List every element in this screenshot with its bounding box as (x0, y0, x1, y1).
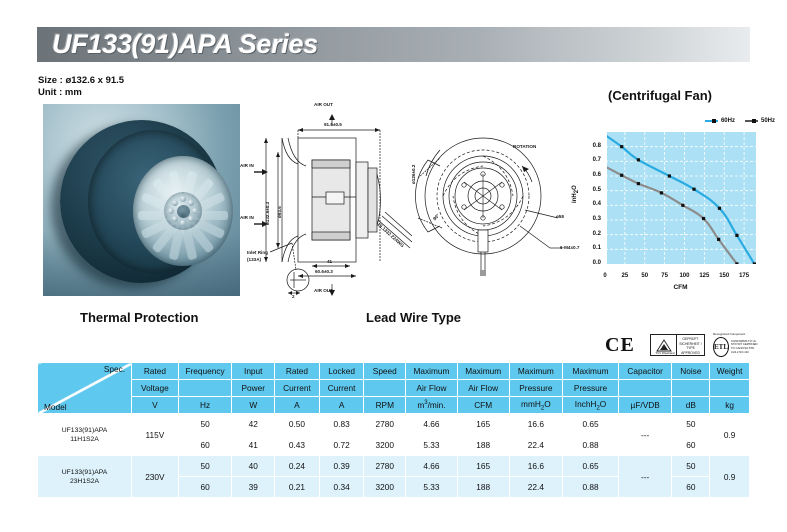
table-header-cell: Current (319, 380, 364, 397)
chart-y-minor-tickmark (602, 194, 605, 195)
table-row: UF133(91)APA11H1S2A115V50420.500.8327804… (38, 414, 750, 435)
chart-y-minor-tickmark (602, 261, 605, 262)
side-section-drawing: AIR OUT AIR OUT AIR IN AIR IN 91.5±0.5 ø… (252, 100, 412, 300)
chart-x-minor-tickmark (741, 265, 742, 268)
chart-series-60hz (605, 135, 754, 264)
table-cell-speed: 2780 (364, 414, 406, 435)
label-depth-60: 60.6±0.3 (315, 269, 333, 274)
table-header-cell: Weight (710, 363, 750, 380)
chart-x-minor-tickmark (726, 265, 727, 268)
tuv-caption: TÜV Rheinland (652, 351, 678, 355)
table-header-cell (710, 380, 750, 397)
table-cell-airflow-cfm: 188 (457, 435, 509, 456)
chart-x-tick: 150 (714, 273, 734, 279)
fan-product-photo (43, 104, 240, 296)
chart-y-minor-tickmark (602, 208, 605, 209)
chart-x-tick: 175 (734, 273, 754, 279)
table-cell-airflow-m3: 4.66 (406, 414, 458, 435)
table-header-unit-cell: Hz (178, 397, 232, 414)
chart-y-minor-tickmark (602, 235, 605, 236)
table-header-cell: Voltage (132, 380, 179, 397)
fan-housing (60, 120, 223, 283)
table-header-cell: Maximum (457, 363, 509, 380)
table-header-cell (672, 380, 710, 397)
table-cell-freq: 50 (178, 414, 232, 435)
table-cell-capacitor: --- (618, 414, 672, 456)
table-cell-airflow-cfm: 165 (457, 414, 509, 435)
fan-impeller (133, 156, 233, 266)
chart-x-minor-tickmark (617, 265, 618, 268)
chart-x-minor-tickmark (614, 265, 615, 268)
chart-x-minor-tickmark (684, 265, 685, 268)
label-thickness: 2 (292, 294, 295, 299)
chart-x-minor-tickmark (668, 265, 669, 268)
certification-marks: CE GEPRÜFT SICHERHEIT / TYPE APPROVED TÜ… (600, 332, 760, 360)
table-header-row-2: VoltagePowerCurrentCurrentAir FlowAir Fl… (38, 380, 750, 397)
label-dia-126: ø126±0.2 (411, 165, 416, 184)
chart-y-minor-tickmark (602, 155, 605, 156)
chart-data-point (620, 145, 623, 148)
chart-x-minor-tickmark (720, 265, 721, 268)
caption-lead-wire-type: Lead Wire Type (366, 310, 461, 325)
legend-item-60hz: 60Hz (705, 118, 735, 124)
table-header-cell (364, 380, 406, 397)
chart-y-tick: 0.0 (573, 260, 601, 266)
table-cell-pressure-mm: 22.4 (509, 435, 563, 456)
chart-x-minor-tickmark (656, 265, 657, 268)
chart-x-minor-tickmark (647, 265, 648, 268)
chart-x-minor-tickmark (744, 265, 745, 268)
etl-conformance-text: CONFORMS TO UL STD 507 CERTIFIED TO CAN/… (731, 340, 761, 354)
triangle-glyph (656, 339, 672, 352)
chart-x-minor-tickmark (723, 265, 724, 268)
table-cell-speed: 3200 (364, 435, 406, 456)
chart-x-minor-tickmark (674, 265, 675, 268)
chart-data-point (718, 207, 721, 210)
table-header-cell: Input (232, 363, 275, 380)
performance-chart: 60Hz 50Hz 0.00.10.20.30.40.50.60.70.8 02… (573, 118, 783, 303)
chart-y-tick: 0.1 (573, 245, 601, 251)
label-width-dim: 91.5±0.5 (324, 122, 342, 127)
chart-x-minor-tickmark (729, 265, 730, 268)
chart-y-minor-tickmark (602, 229, 605, 230)
chart-x-minor-tickmark (711, 265, 712, 268)
table-header-cell: Pressure (563, 380, 619, 397)
table-header-unit-cell: RPM (364, 397, 406, 414)
table-header-unit-cell: A (275, 397, 320, 414)
chart-x-tick: 25 (615, 273, 635, 279)
table-cell-rated-current: 0.21 (275, 477, 320, 498)
label-outer-diameter: ø132.6±0.3 (265, 202, 270, 225)
table-header-unit-cell: W (232, 397, 275, 414)
chart-plot-area (605, 132, 756, 264)
chart-y-axis (605, 132, 607, 264)
chart-x-minor-tickmark (677, 265, 678, 268)
chart-y-minor-tickmark (602, 249, 605, 250)
table-cell-rated-current: 0.43 (275, 435, 320, 456)
table-cell-freq: 50 (178, 456, 232, 477)
table-cell-model: UF133(91)APA23H1S2A (38, 456, 132, 498)
table-header-unit-cell: InchH2O (563, 397, 619, 414)
chart-y-minor-tickmark (602, 220, 605, 221)
chart-y-minor-tickmark (602, 141, 605, 142)
table-header-unit-cell: µF/VDB (618, 397, 672, 414)
label-inlet-ring-model: (133A) (247, 257, 261, 262)
chart-heading: (Centrifugal Fan) (608, 88, 712, 103)
chart-curves-svg (605, 132, 756, 264)
chart-y-minor-tickmark (602, 182, 605, 183)
chart-data-point (702, 217, 705, 220)
table-header-unit-cell: kg (710, 397, 750, 414)
legend-label-60hz: 60Hz (721, 118, 735, 124)
chart-x-minor-tickmark (662, 265, 663, 268)
chart-x-minor-tickmark (629, 265, 630, 268)
table-cell-power: 39 (232, 477, 275, 498)
chart-y-minor-tickmark (602, 158, 605, 159)
table-cell-pressure-mm: 22.4 (509, 477, 563, 498)
table-cell-locked-current: 0.72 (319, 435, 364, 456)
table-header-cell: Frequency (178, 363, 232, 380)
table-header-cell: Noise (672, 363, 710, 380)
table-cell-model: UF133(91)APA11H1S2A (38, 414, 132, 456)
etl-mark-icon: Recognized Component ETL CONFORMS TO UL … (713, 332, 761, 358)
table-header-cell: Pressure (509, 380, 563, 397)
chart-y-minor-tickmark (602, 135, 605, 136)
chart-y-minor-tickmark (602, 144, 605, 145)
chart-x-minor-tickmark (699, 265, 700, 268)
table-header-cell: Maximum (406, 363, 458, 380)
chart-x-minor-tickmark (638, 265, 639, 268)
chart-y-minor-tickmark (602, 226, 605, 227)
table-header-cell: Locked (319, 363, 364, 380)
chart-x-minor-tickmark (717, 265, 718, 268)
chart-data-point (735, 234, 738, 237)
chart-legend: 60Hz 50Hz (705, 118, 775, 124)
chart-y-minor-tickmark (602, 243, 605, 244)
chart-y-minor-tickmark (602, 258, 605, 259)
label-dia-58: ø58 (556, 214, 564, 219)
chart-x-minor-tickmark (708, 265, 709, 268)
legend-marker-60hz (712, 119, 716, 123)
chart-y-minor-tickmark (602, 170, 605, 171)
chart-x-minor-tickmark (735, 265, 736, 268)
chart-x-minor-tickmark (732, 265, 733, 268)
header-spec-label: Spec. (104, 364, 125, 374)
fan-housing-rim (88, 130, 219, 273)
chart-x-minor-tickmark (626, 265, 627, 268)
table-row: UF133(91)APA23H1S2A230V50400.240.3927804… (38, 456, 750, 477)
table-cell-pressure-inch: 0.65 (563, 414, 619, 435)
label-air-in-top: AIR IN (240, 163, 254, 168)
chart-x-minor-tickmark (693, 265, 694, 268)
chart-x-minor-tickmark (632, 265, 633, 268)
table-header-cell: Rated (275, 363, 320, 380)
chart-x-tick: 125 (694, 273, 714, 279)
table-cell-power: 41 (232, 435, 275, 456)
table-header-cell: Power (232, 380, 275, 397)
chart-x-minor-tickmark (641, 265, 642, 268)
chart-x-minor-tickmark (753, 265, 754, 268)
chart-x-minor-tickmark (750, 265, 751, 268)
table-header-row-3: VHzWAARPMm3/min.CFMmmH2OInchH2OµF/VDBdBk… (38, 397, 750, 414)
table-cell-voltage: 230V (132, 456, 179, 498)
table-cell-pressure-inch: 0.88 (563, 477, 619, 498)
legend-label-50hz: 50Hz (761, 118, 775, 124)
chart-y-tick: 0.8 (573, 143, 601, 149)
chart-y-minor-tickmark (602, 173, 605, 174)
chart-x-minor-tickmark (644, 265, 645, 268)
table-header-cell (178, 380, 232, 397)
table-cell-pressure-inch: 0.65 (563, 456, 619, 477)
chart-x-minor-tickmark (671, 265, 672, 268)
chart-x-axis-label: CFM (605, 284, 756, 291)
chart-y-minor-tickmark (602, 241, 605, 242)
etl-body: ETL CONFORMS TO UL STD 507 CERTIFIED TO … (713, 337, 761, 357)
tuv-text: GEPRÜFT SICHERHEIT / TYPE APPROVED (677, 335, 704, 355)
label-air-in-bottom: AIR IN (240, 215, 254, 220)
table-cell-weight: 0.9 (710, 414, 750, 456)
table-cell-rated-current: 0.50 (275, 414, 320, 435)
table-cell-voltage: 115V (132, 414, 179, 456)
table-header-unit-cell: CFM (457, 397, 509, 414)
table-cell-rated-current: 0.24 (275, 456, 320, 477)
chart-y-minor-tickmark (602, 147, 605, 148)
table-cell-noise: 60 (672, 477, 710, 498)
chart-y-minor-tickmark (602, 252, 605, 253)
chart-x-minor-tickmark (653, 265, 654, 268)
size-info: Size : ø132.6 x 91.5 Unit : mm (38, 75, 124, 99)
chart-x-minor-tickmark (665, 265, 666, 268)
chart-x-minor-tickmark (608, 265, 609, 268)
etl-recognized-label: Recognized Component (713, 332, 761, 336)
chart-y-axis-label: inH2O (572, 185, 580, 203)
table-cell-weight: 0.9 (710, 456, 750, 498)
table-header-cell: Capacitor (618, 363, 672, 380)
chart-x-tick: 75 (655, 273, 675, 279)
chart-x-tick: 50 (635, 273, 655, 279)
chart-y-minor-tickmark (602, 199, 605, 200)
chart-y-minor-tickmark (602, 211, 605, 212)
chart-x-minor-tickmark (681, 265, 682, 268)
legend-marker-50hz (752, 119, 756, 123)
chart-y-minor-tickmark (602, 164, 605, 165)
chart-y-minor-tickmark (602, 202, 605, 203)
page-title: UF133(91)APA Series (52, 29, 318, 60)
table-header-cell: Maximum (563, 363, 619, 380)
chart-data-point (692, 188, 695, 191)
chart-y-minor-tickmark (602, 185, 605, 186)
table-cell-pressure-inch: 0.88 (563, 435, 619, 456)
chart-data-point (717, 238, 720, 241)
table-cell-capacitor: --- (618, 456, 672, 498)
table-cell-freq: 60 (178, 435, 232, 456)
chart-data-point (660, 191, 663, 194)
caption-thermal-protection: Thermal Protection (80, 310, 198, 325)
chart-x-minor-tickmark (714, 265, 715, 268)
chart-data-point (637, 182, 640, 185)
table-header-row: Spec. Model RatedFrequencyInputRatedLock… (38, 363, 750, 380)
table-header-unit-cell: m3/min. (406, 397, 458, 414)
chart-y-minor-tickmark (602, 238, 605, 239)
chart-y-minor-tickmark (602, 150, 605, 151)
label-air-out-bottom: AIR OUT (314, 288, 333, 293)
table-header-cell: Maximum (509, 363, 563, 380)
front-view-drawing: ROTATION 90° ø58 6-M4x0.7 ø126±0.2 (410, 118, 575, 293)
chart-y-minor-tickmark (602, 179, 605, 180)
etl-circle-icon: ETL (713, 337, 729, 357)
table-cell-pressure-mm: 16.6 (509, 456, 563, 477)
table-cell-airflow-m3: 5.33 (406, 477, 458, 498)
ce-mark-icon: CE (605, 334, 635, 357)
chart-x-minor-tickmark (705, 265, 706, 268)
chart-x-minor-tickmark (690, 265, 691, 268)
chart-y-minor-tickmark (602, 223, 605, 224)
table-header-cell: Current (275, 380, 320, 397)
table-cell-noise: 60 (672, 435, 710, 456)
chart-y-minor-tickmark (602, 246, 605, 247)
chart-x-minor-tickmark (605, 265, 606, 268)
chart-y-minor-tickmark (602, 167, 605, 168)
table-cell-power: 42 (232, 414, 275, 435)
table-cell-noise: 50 (672, 456, 710, 477)
label-inlet-ring: Inlet Ring (247, 250, 268, 255)
label-air-out-top: AIR OUT (314, 102, 333, 107)
label-inner-diameter: ø93.6 (277, 206, 282, 218)
table-header-unit-cell: mmH2O (509, 397, 563, 414)
chart-y-minor-tickmark (602, 205, 605, 206)
header-model-label: Model (44, 402, 67, 412)
unit-line: Unit : mm (38, 87, 124, 99)
table-header-unit-cell: dB (672, 397, 710, 414)
size-line: Size : ø132.6 x 91.5 (38, 75, 124, 87)
table-cell-locked-current: 0.39 (319, 456, 364, 477)
chart-data-point (620, 174, 623, 177)
table-cell-airflow-cfm: 188 (457, 477, 509, 498)
tuv-mark-icon: GEPRÜFT SICHERHEIT / TYPE APPROVED TÜV R… (650, 334, 705, 356)
chart-x-tick: 0 (595, 273, 615, 279)
chart-y-minor-tickmark (602, 232, 605, 233)
table-header-cell: Air Flow (406, 380, 458, 397)
chart-y-minor-tickmark (602, 214, 605, 215)
chart-x-minor-tickmark (756, 265, 757, 268)
chart-data-point (637, 158, 640, 161)
front-drawing-svg (410, 118, 575, 293)
table-header-cell: Rated (132, 363, 179, 380)
chart-data-point (668, 174, 671, 177)
label-depth-41: 41 (327, 259, 332, 264)
chart-x-minor-tickmark (611, 265, 612, 268)
chart-y-minor-tickmark (602, 161, 605, 162)
legend-item-50hz: 50Hz (745, 118, 775, 124)
chart-y-minor-tickmark (602, 188, 605, 189)
table-cell-airflow-m3: 5.33 (406, 435, 458, 456)
chart-y-tick: 0.3 (573, 216, 601, 222)
table-header-cell: Air Flow (457, 380, 509, 397)
chart-y-tick: 0.6 (573, 172, 601, 178)
chart-y-minor-tickmark (602, 176, 605, 177)
chart-data-point (681, 204, 684, 207)
table-cell-pressure-mm: 16.6 (509, 414, 563, 435)
table-cell-airflow-m3: 4.66 (406, 456, 458, 477)
table-header-cell: Speed (364, 363, 406, 380)
chart-y-tick: 0.2 (573, 231, 601, 237)
table-cell-speed: 3200 (364, 477, 406, 498)
chart-y-minor-tickmark (602, 197, 605, 198)
chart-x-minor-tickmark (738, 265, 739, 268)
specification-table: Spec. Model RatedFrequencyInputRatedLock… (37, 362, 750, 498)
chart-y-minor-tickmark (602, 255, 605, 256)
chart-x-minor-tickmark (659, 265, 660, 268)
table-header: Spec. Model RatedFrequencyInputRatedLock… (38, 363, 750, 414)
chart-x-tick: 100 (674, 273, 694, 279)
table-body: UF133(91)APA11H1S2A115V50420.500.8327804… (38, 414, 750, 498)
table-cell-airflow-cfm: 165 (457, 456, 509, 477)
chart-x-minor-tickmark (635, 265, 636, 268)
table-cell-locked-current: 0.34 (319, 477, 364, 498)
chart-x-minor-tickmark (702, 265, 703, 268)
table-cell-noise: 50 (672, 414, 710, 435)
chart-x-minor-tickmark (747, 265, 748, 268)
label-rotation: ROTATION (513, 144, 536, 149)
chart-y-minor-tickmark (602, 191, 605, 192)
header-corner-cell: Spec. Model (38, 363, 132, 414)
chart-y-minor-tickmark (602, 217, 605, 218)
chart-y-minor-tickmark (602, 153, 605, 154)
chart-y-minor-tickmark (602, 132, 605, 133)
chart-x-minor-tickmark (620, 265, 621, 268)
chart-x-minor-tickmark (623, 265, 624, 268)
table-header-unit-cell: A (319, 397, 364, 414)
table-cell-locked-current: 0.83 (319, 414, 364, 435)
chart-x-minor-tickmark (687, 265, 688, 268)
chart-y-tick: 0.7 (573, 157, 601, 163)
table-cell-speed: 2780 (364, 456, 406, 477)
table-header-cell (618, 380, 672, 397)
table-cell-freq: 60 (178, 477, 232, 498)
chart-y-minor-tickmark (602, 138, 605, 139)
table-cell-power: 40 (232, 456, 275, 477)
table-header-unit-cell: V (132, 397, 179, 414)
chart-x-minor-tickmark (650, 265, 651, 268)
chart-x-minor-tickmark (696, 265, 697, 268)
